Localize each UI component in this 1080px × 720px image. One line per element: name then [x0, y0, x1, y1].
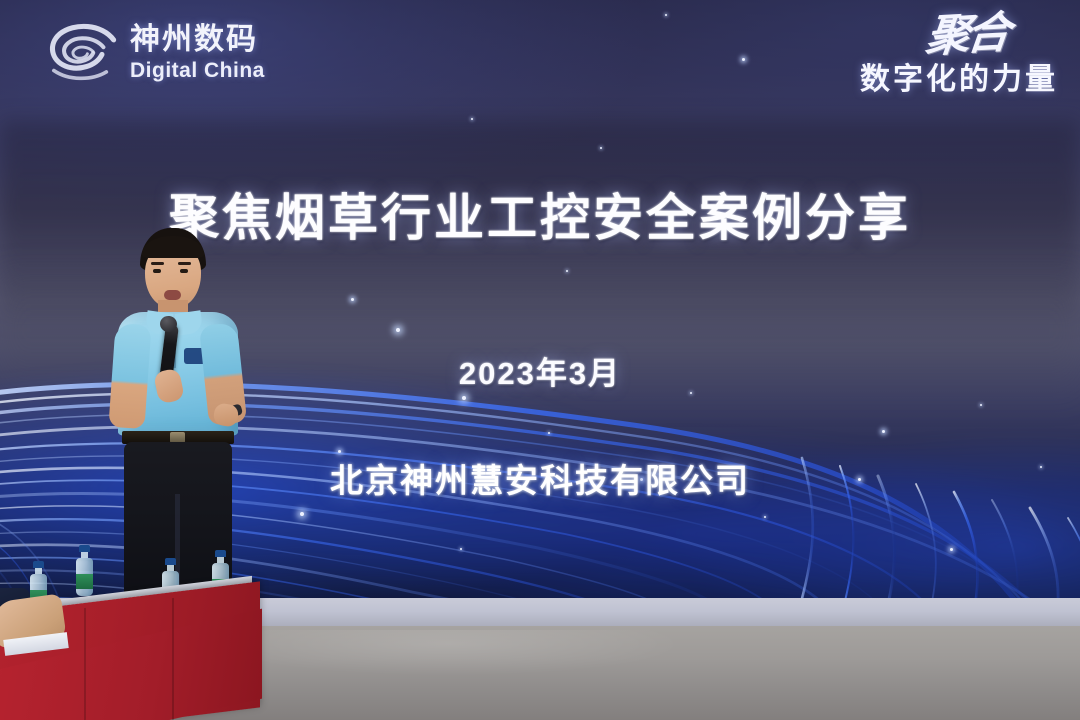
water-bottle: [76, 545, 93, 596]
table-cloth-fold: [172, 598, 174, 720]
light-particle: [460, 548, 462, 550]
presenter-brow-right: [178, 262, 191, 265]
light-particle: [462, 396, 466, 400]
light-particle: [566, 270, 568, 272]
light-particle: [764, 516, 766, 518]
light-particle: [980, 404, 982, 406]
light-particle: [882, 430, 885, 433]
stage-floor-sheen: [240, 630, 760, 700]
bottle-cap: [215, 550, 226, 557]
bottle-cap: [165, 558, 176, 565]
brand-name-en: Digital China: [130, 60, 265, 81]
calligraphy-juhe: 聚合: [857, 12, 1008, 61]
light-particle: [300, 512, 304, 516]
brand-names: 神州数码 Digital China: [130, 25, 265, 81]
bottle-cap: [79, 545, 90, 552]
brand-name-cn: 神州数码: [130, 25, 265, 55]
light-particle: [665, 14, 667, 16]
brand-logo-digital-china: 神州数码 Digital China: [46, 18, 265, 88]
swirl-spiral-logo-icon: [46, 18, 120, 88]
presenter-arm-left: [108, 323, 151, 429]
bottle-label: [76, 574, 93, 589]
table-cloth-fold: [84, 608, 86, 720]
light-particle: [396, 328, 400, 332]
presenter-eye-left: [153, 269, 161, 273]
light-particle: [742, 58, 745, 61]
screenshot-root: 神州数码 Digital China 聚合 数字化的力量 聚焦烟草行业工控安全案…: [0, 0, 1080, 720]
light-particle: [950, 548, 953, 551]
presenter-eye-right: [180, 269, 188, 273]
light-particle: [351, 298, 354, 301]
presenter-mouth: [164, 290, 181, 300]
light-particle: [548, 432, 550, 434]
presenter-figure: [96, 228, 276, 600]
presenter-brow-left: [151, 262, 164, 265]
bottle-cap: [33, 561, 44, 568]
bottle-body: [76, 558, 93, 596]
light-particle: [471, 118, 473, 120]
light-particle: [600, 147, 602, 149]
light-particle: [338, 450, 341, 453]
brand-logo-juhe: 聚合 数字化的力量: [860, 16, 1058, 98]
